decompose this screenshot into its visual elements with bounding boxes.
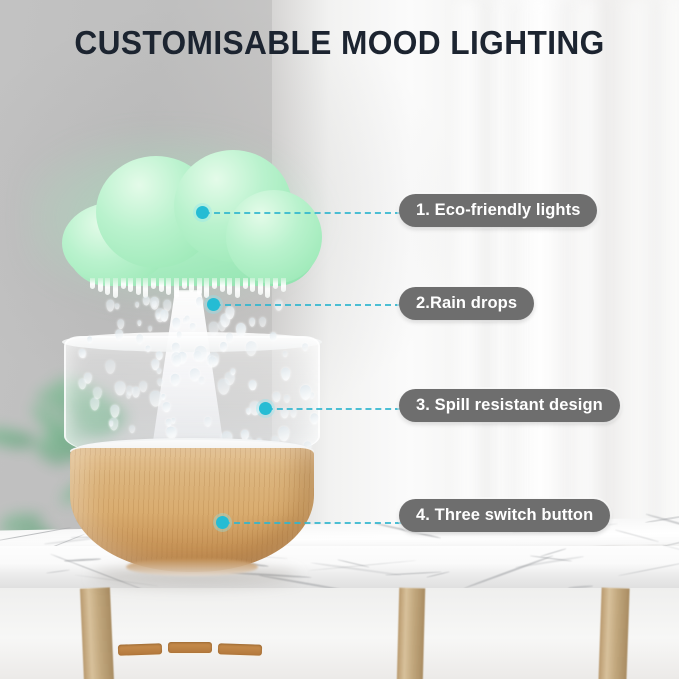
water-droplet <box>157 378 163 386</box>
rain-nozzle <box>281 278 286 292</box>
callout-label-3[interactable]: 3. Spill resistant design <box>399 389 620 422</box>
falling-droplet <box>143 296 150 305</box>
water-droplet <box>150 391 162 407</box>
water-droplet <box>129 425 135 433</box>
marble-vein <box>46 569 70 573</box>
wooden-base <box>70 448 314 572</box>
water-droplet <box>204 417 211 427</box>
water-droplet <box>110 405 119 418</box>
rain-nozzle <box>143 278 148 298</box>
falling-droplet <box>148 326 152 332</box>
water-droplet <box>218 379 230 395</box>
plant-leaf <box>0 423 35 454</box>
product-infographic-scene: 1. Eco-friendly lights2.Rain drops3. Spi… <box>0 0 679 679</box>
rain-nozzle <box>204 278 209 298</box>
falling-droplet <box>115 329 123 340</box>
callout-connector-1 <box>204 212 401 214</box>
water-droplet <box>156 351 163 360</box>
falling-droplet <box>249 318 255 327</box>
water-droplet <box>230 368 235 375</box>
water-droplet <box>302 343 308 351</box>
rain-nozzle <box>182 278 187 289</box>
switch-button-3[interactable] <box>218 643 262 656</box>
rain-nozzle <box>273 278 278 289</box>
water-droplet <box>139 381 147 392</box>
rain-nozzle <box>265 278 270 298</box>
table-leg-middle <box>397 588 425 679</box>
water-droplet <box>310 413 318 424</box>
rain-nozzle <box>220 278 225 292</box>
water-droplet <box>115 381 126 395</box>
falling-droplet <box>225 306 234 319</box>
water-droplet <box>84 373 92 384</box>
rain-nozzle <box>90 278 95 289</box>
water-droplet <box>109 418 118 431</box>
water-droplet <box>249 380 257 390</box>
water-droplet <box>166 419 172 427</box>
water-droplet <box>171 352 181 366</box>
rain-nozzle <box>121 278 126 289</box>
table-leg-left <box>80 587 114 679</box>
falling-droplet <box>259 317 266 327</box>
marble-vein <box>661 545 679 555</box>
rain-nozzle <box>136 278 141 295</box>
rain-nozzle <box>189 278 194 292</box>
callout-connector-4 <box>224 522 401 524</box>
water-droplet <box>281 368 290 381</box>
table-leg-right <box>598 588 629 679</box>
water-droplet <box>90 398 99 411</box>
callout-connector-3 <box>267 408 401 410</box>
rain-nozzle <box>227 278 232 295</box>
glowing-cloud-lamp <box>62 150 322 285</box>
falling-droplet <box>246 341 257 356</box>
falling-droplet <box>117 319 124 329</box>
water-droplet <box>300 385 311 400</box>
water-droplet <box>273 392 281 402</box>
water-droplet <box>93 387 102 399</box>
water-droplet <box>290 409 296 418</box>
water-droplet <box>145 345 150 352</box>
water-droplet <box>195 346 207 362</box>
rain-nozzle <box>113 278 118 298</box>
rain-nozzle <box>235 278 240 298</box>
rain-nozzle <box>212 278 217 289</box>
falling-droplet <box>87 336 92 343</box>
callout-dot-1[interactable] <box>196 206 209 219</box>
water-droplet <box>79 349 86 358</box>
water-droplet <box>171 374 180 386</box>
callout-dot-4[interactable] <box>216 516 229 529</box>
callout-dot-2[interactable] <box>207 298 220 311</box>
callout-connector-2 <box>215 304 401 306</box>
falling-droplet <box>115 303 120 309</box>
water-droplet <box>157 368 162 374</box>
page-title: CUSTOMISABLE MOOD LIGHTING <box>14 24 666 62</box>
rain-nozzle <box>105 278 110 295</box>
rain-nozzle <box>128 278 133 292</box>
switch-button-1[interactable] <box>118 643 162 656</box>
callout-label-1[interactable]: 1. Eco-friendly lights <box>399 194 597 227</box>
callout-label-2[interactable]: 2.Rain drops <box>399 287 534 320</box>
water-droplet <box>284 395 290 403</box>
water-droplet <box>283 351 288 357</box>
marble-vein <box>540 548 566 557</box>
water-droplet <box>163 402 171 412</box>
water-droplet <box>126 386 133 396</box>
falling-droplet <box>196 297 203 307</box>
rain-nozzle <box>151 278 156 289</box>
water-droplet <box>278 426 289 441</box>
falling-droplet <box>160 310 168 322</box>
base-foot <box>126 558 258 576</box>
rain-nozzle <box>250 278 255 292</box>
rain-nozzle <box>258 278 263 295</box>
rain-nozzle <box>166 278 171 295</box>
falling-droplet <box>137 320 141 326</box>
callout-dot-3[interactable] <box>259 402 272 415</box>
water-droplet <box>199 377 205 385</box>
switch-button-2[interactable] <box>168 642 212 653</box>
marble-vein <box>615 529 659 542</box>
rain-nozzle <box>159 278 164 292</box>
marble-vein <box>463 555 553 589</box>
callout-label-4[interactable]: 4. Three switch button <box>399 499 610 532</box>
rain-nozzle <box>98 278 103 292</box>
rain-nozzle <box>243 278 248 289</box>
marble-vein <box>618 561 679 577</box>
water-droplet <box>105 360 115 374</box>
